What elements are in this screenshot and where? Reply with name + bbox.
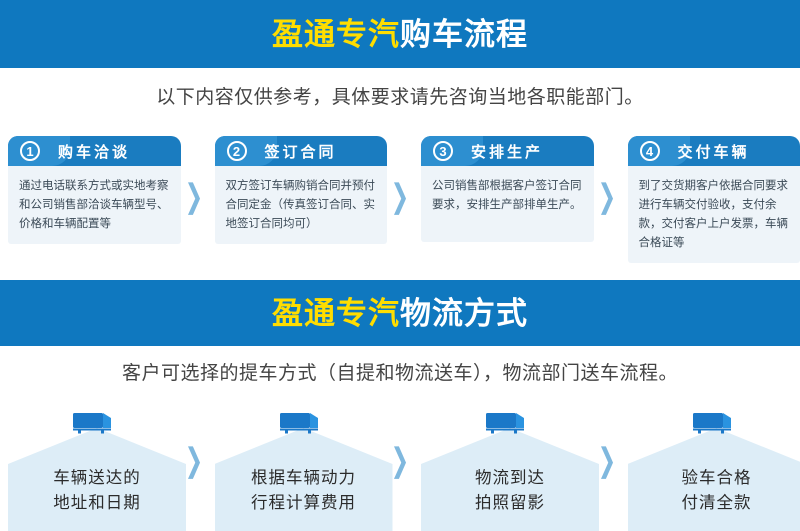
logistics-banner: 盈通专汽物流方式	[0, 280, 800, 346]
truck-icon	[484, 410, 530, 436]
logistics-label-line2: 地址和日期	[8, 491, 186, 517]
logistics-label-1: 车辆送达的 地址和日期	[8, 466, 186, 517]
logistics-label-line1: 物流到达	[421, 466, 599, 492]
step-header-3: 3 安排生产	[421, 136, 594, 166]
logistics-label-line1: 车辆送达的	[8, 466, 186, 492]
purchase-banner: 盈通专汽购车流程	[0, 0, 800, 68]
truck-icon	[691, 410, 737, 436]
step-number-badge-3: 3	[433, 141, 453, 161]
purchase-banner-suffix: 购车流程	[400, 17, 528, 52]
step-title-2: 签订合同	[265, 141, 337, 162]
step-header-4: 4 交付车辆	[628, 136, 800, 166]
chevron-glyph: ❯	[597, 441, 616, 480]
chevron-right-icon: ❯	[387, 136, 413, 256]
step-card-2[interactable]: 2 签订合同 双方签订车辆购销合同并预付合同定金（传真签订合同、实地签订合同均可…	[215, 136, 388, 244]
logistics-item-3[interactable]: 物流到达 拍照留影	[421, 408, 594, 531]
truck-icon	[278, 410, 324, 436]
logistics-label-line2: 付清全款	[628, 491, 800, 517]
chevron-glyph: ❯	[184, 441, 203, 480]
logistics-banner-suffix: 物流方式	[400, 296, 528, 331]
purchase-subtitle: 以下内容仅供参考，具体要求请先咨询当地各职能部门。	[0, 82, 800, 109]
step-card-4[interactable]: 4 交付车辆 到了交货期客户依据合同要求进行车辆交付验收，支付余款，交付客户上户…	[628, 136, 800, 263]
logistics-label-line2: 拍照留影	[421, 491, 599, 517]
chevron-right-icon: ❯	[181, 136, 207, 256]
purchase-banner-title: 盈通专汽购车流程	[272, 19, 528, 50]
logistics-item-4[interactable]: 验车合格 付清全款	[628, 408, 800, 531]
step-number-badge-2: 2	[227, 141, 247, 161]
chevron-glyph: ❯	[391, 177, 410, 216]
logistics-label-3: 物流到达 拍照留影	[421, 466, 599, 517]
chevron-glyph: ❯	[597, 177, 616, 216]
logistics-steps-row: 车辆送达的 地址和日期 ❯ 根据车辆动力 行程计算费用 ❯	[0, 408, 800, 531]
step-body-2: 双方签订车辆购销合同并预付合同定金（传真签订合同、实地签订合同均可）	[215, 166, 388, 244]
step-title-1: 购车洽谈	[58, 141, 130, 162]
logistics-label-line1: 根据车辆动力	[215, 466, 393, 492]
step-card-3[interactable]: 3 安排生产 公司销售部根据客户签订合同要求，安排生产部排单生产。	[421, 136, 594, 242]
logistics-label-4: 验车合格 付清全款	[628, 466, 800, 517]
chevron-right-icon: ❯	[594, 136, 620, 256]
brand-name: 盈通专汽	[272, 296, 400, 331]
logistics-item-2[interactable]: 根据车辆动力 行程计算费用	[215, 408, 388, 531]
purchase-steps-row: 1 购车洽谈 通过电话联系方式或实地考察和公司销售部洽谈车辆型号、价格和车辆配置…	[0, 136, 800, 256]
logistics-banner-title: 盈通专汽物流方式	[272, 298, 528, 329]
brand-name: 盈通专汽	[272, 17, 400, 52]
chevron-glyph: ❯	[391, 441, 410, 480]
step-number-badge-4: 4	[640, 141, 660, 161]
step-body-1: 通过电话联系方式或实地考察和公司销售部洽谈车辆型号、价格和车辆配置等	[8, 166, 181, 244]
logistics-label-line2: 行程计算费用	[215, 491, 393, 517]
step-body-3: 公司销售部根据客户签订合同要求，安排生产部排单生产。	[421, 166, 594, 242]
logistics-item-1[interactable]: 车辆送达的 地址和日期	[8, 408, 181, 531]
promo-page: 盈通专汽购车流程 以下内容仅供参考，具体要求请先咨询当地各职能部门。 1 购车洽…	[0, 0, 800, 531]
logistics-label-2: 根据车辆动力 行程计算费用	[215, 466, 393, 517]
step-title-4: 交付车辆	[678, 141, 750, 162]
step-header-1: 1 购车洽谈	[8, 136, 181, 166]
truck-icon	[71, 410, 117, 436]
logistics-subtitle: 客户可选择的提车方式（自提和物流送车），物流部门送车流程。	[0, 358, 800, 385]
step-body-4: 到了交货期客户依据合同要求进行车辆交付验收，支付余款，交付客户上户发票，车辆合格…	[628, 166, 800, 263]
step-number-badge-1: 1	[20, 141, 40, 161]
step-title-3: 安排生产	[471, 141, 543, 162]
step-header-2: 2 签订合同	[215, 136, 388, 166]
logistics-label-line1: 验车合格	[628, 466, 800, 492]
step-card-1[interactable]: 1 购车洽谈 通过电话联系方式或实地考察和公司销售部洽谈车辆型号、价格和车辆配置…	[8, 136, 181, 244]
chevron-glyph: ❯	[184, 177, 203, 216]
